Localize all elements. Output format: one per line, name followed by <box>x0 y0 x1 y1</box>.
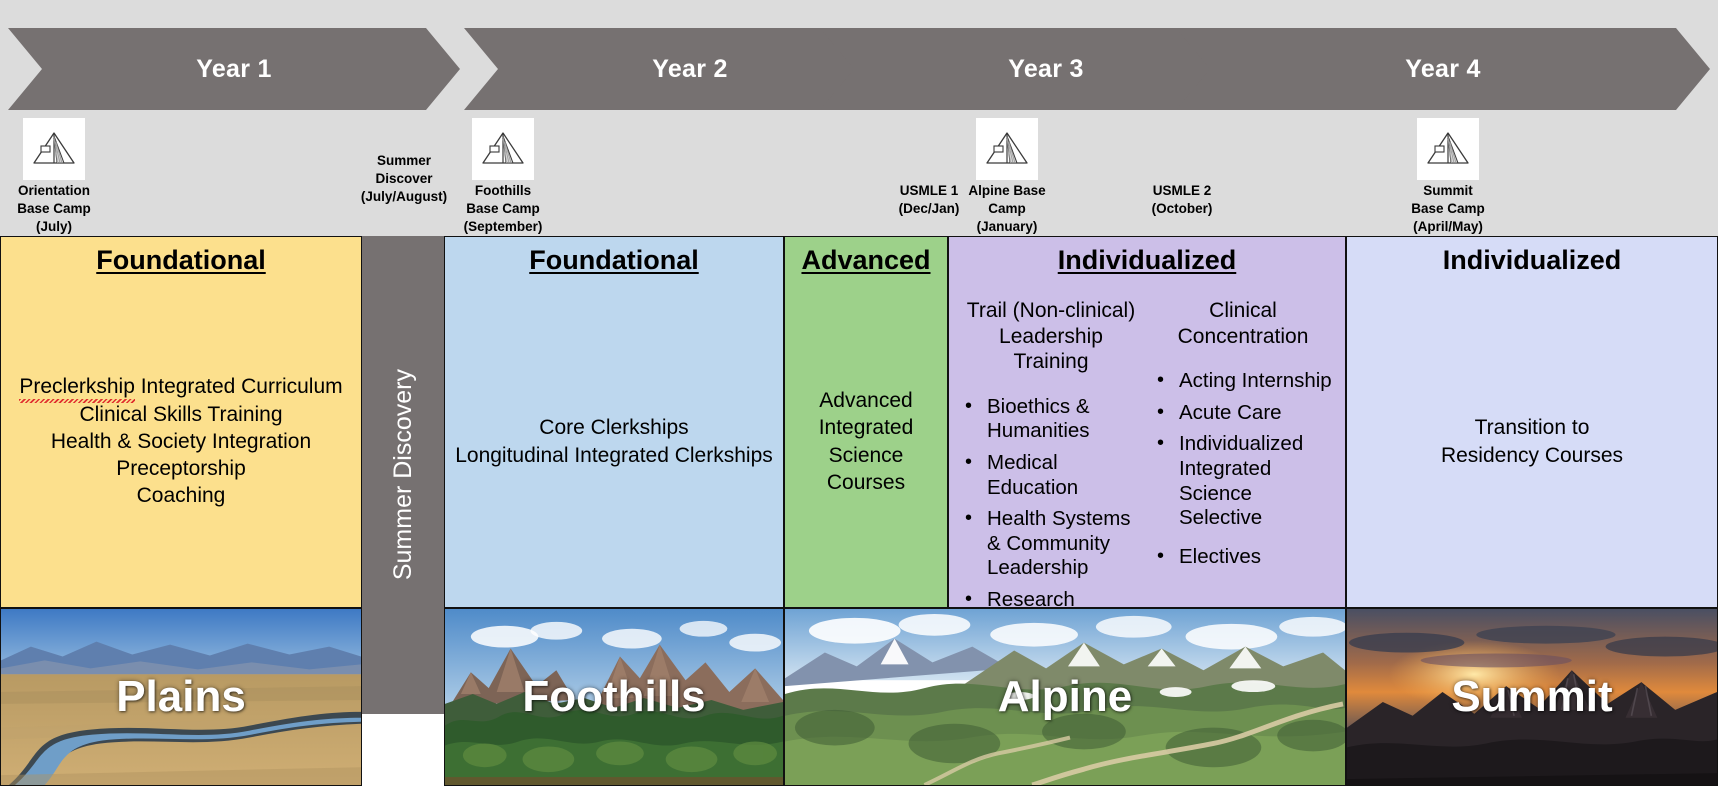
panel-title: Advanced <box>801 245 930 276</box>
column-heading: Trail (Non-clinical) Leadership Training <box>961 298 1141 375</box>
summer-discovery-label: Summer Discovery <box>389 369 418 580</box>
trail-item-list: Bioethics & Humanities Medical Education… <box>961 395 1141 608</box>
list-item: Electives <box>1153 545 1333 570</box>
curriculum-timeline-diagram: Year 1 Year 2 Year 3 Year 4 <box>0 0 1718 794</box>
year-label: Year 1 <box>196 55 271 84</box>
tent-icon <box>976 118 1038 180</box>
year-label: Year 3 <box>1008 55 1083 84</box>
transition-course-list: Transition to Residency Courses <box>1441 414 1623 469</box>
individualized-column-trail: Trail (Non-clinical) Leadership Training… <box>955 298 1147 608</box>
foundational-course-list: Preclerkship Integrated Curriculum Clini… <box>19 373 342 509</box>
photo-label: Foothills <box>522 672 705 722</box>
panel-foundational-year2: Foundational Core Clerkships Longitudina… <box>444 236 784 608</box>
chevron-row: Year 1 Year 2 Year 3 Year 4 <box>8 28 1710 110</box>
photo-label: Alpine <box>998 672 1132 722</box>
list-item: Acting Internship <box>1153 369 1333 394</box>
list-item: Research <box>961 588 1141 608</box>
tent-icon <box>1417 118 1479 180</box>
landscape-photo-band: Plains <box>0 608 1718 786</box>
panel-title: Individualized <box>1058 245 1237 276</box>
panel-title: Individualized <box>1443 245 1622 276</box>
panel-advanced: Advanced Advanced Integrated Science Cou… <box>784 236 948 608</box>
spellcheck-word: Preclerkship <box>19 373 135 400</box>
milestone-label: USMLE 1 (Dec/Jan) <box>899 182 960 218</box>
column-heading: Clinical Concentration <box>1153 298 1333 349</box>
panel-title: Foundational <box>96 245 265 276</box>
individualized-columns: Trail (Non-clinical) Leadership Training… <box>955 280 1339 608</box>
list-item: Health Systems & Community Leadership <box>961 507 1141 581</box>
summit-photo: Summit <box>1346 608 1718 786</box>
year-label: Year 2 <box>652 55 727 84</box>
foothills-photo: Foothills <box>444 608 784 786</box>
panel-body: Advanced Integrated Science Courses <box>785 276 947 607</box>
list-item: Acute Care <box>1153 401 1333 426</box>
panel-individualized-year4: Individualized Transition to Residency C… <box>1346 236 1718 608</box>
panel-body: Trail (Non-clinical) Leadership Training… <box>949 276 1345 608</box>
list-item: Individualized Integrated Science Select… <box>1153 432 1333 530</box>
panel-body: Transition to Residency Courses <box>1347 276 1717 607</box>
panel-body: Preclerkship Integrated Curriculum Clini… <box>1 276 361 607</box>
milestone-label: USMLE 2 (October) <box>1152 182 1213 218</box>
panel-title: Foundational <box>529 245 698 276</box>
year-label: Year 4 <box>1405 55 1480 84</box>
milestone-label: Foothills Base Camp (September) <box>464 182 543 235</box>
milestone-orientation-base-camp: Orientation Base Camp (July) <box>6 118 102 235</box>
year-band: Year 1 Year 2 Year 3 Year 4 <box>0 0 1718 236</box>
photo-label: Summit <box>1451 672 1612 722</box>
year-chevron-4: Year 4 <box>1176 28 1710 110</box>
list-item: Medical Education <box>961 451 1141 500</box>
tent-icon <box>23 118 85 180</box>
tent-icon <box>472 118 534 180</box>
alpine-photo: Alpine <box>784 608 1346 786</box>
milestone-summit-base-camp: Summit Base Camp (April/May) <box>1400 118 1496 235</box>
milestone-label: Summit Base Camp (April/May) <box>1411 182 1485 235</box>
milestone-label: Alpine Base Camp (January) <box>968 182 1045 235</box>
milestone-usmle-2: USMLE 2 (October) <box>1133 180 1231 218</box>
milestone-foothills-base-camp: Foothills Base Camp (September) <box>455 118 551 235</box>
plains-photo: Plains <box>0 608 362 786</box>
milestone-label: Orientation Base Camp (July) <box>17 182 91 235</box>
milestone-label: Summer Discover (July/August) <box>361 152 447 205</box>
clinical-item-list: Acting Internship Acute Care Individuali… <box>1153 369 1333 569</box>
panel-foundational-year1: Foundational Preclerkship Integrated Cur… <box>0 236 362 608</box>
milestone-alpine-base-camp: Alpine Base Camp (January) <box>958 118 1056 235</box>
clerkship-list: Core Clerkships Longitudinal Integrated … <box>455 414 773 469</box>
advanced-course-list: Advanced Integrated Science Courses <box>791 387 941 496</box>
individualized-column-clinical: Clinical Concentration Acting Internship… <box>1147 298 1339 608</box>
milestone-summer-discover: Summer Discover (July/August) <box>352 150 456 205</box>
panel-body: Core Clerkships Longitudinal Integrated … <box>445 276 783 607</box>
panel-individualized-year3: Individualized Trail (Non-clinical) Lead… <box>948 236 1346 608</box>
photo-label: Plains <box>116 672 246 722</box>
year-chevron-1: Year 1 <box>8 28 460 110</box>
list-item: Bioethics & Humanities <box>961 395 1141 444</box>
curriculum-panels: Foundational Preclerkship Integrated Cur… <box>0 236 1718 608</box>
